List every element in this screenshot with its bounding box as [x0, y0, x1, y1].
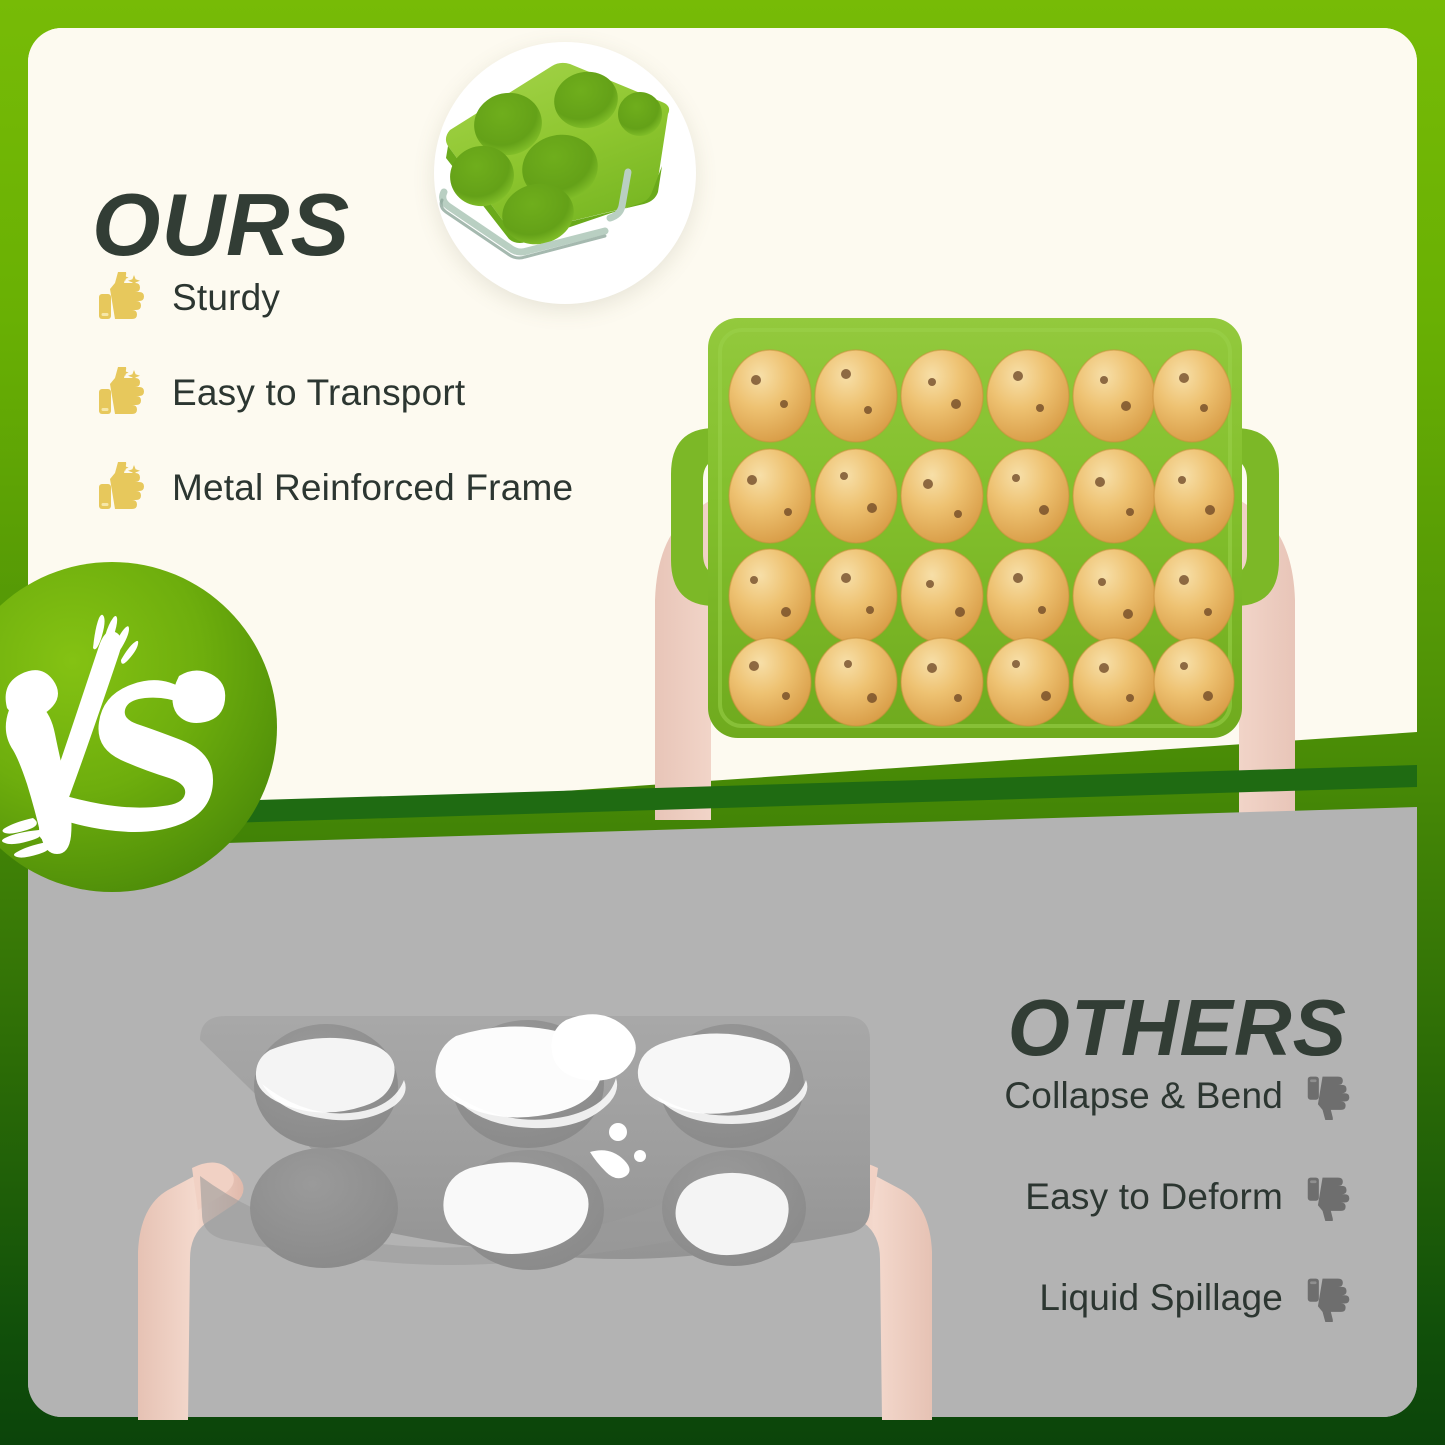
ours-feature-list: Sturdy Easy to Transport [96, 272, 573, 557]
thumbs-down-icon [1305, 1072, 1353, 1120]
vs-badge [0, 562, 277, 892]
others-feature-row: Collapse & Bend [1004, 1072, 1353, 1120]
others-feature-label: Collapse & Bend [1004, 1075, 1283, 1117]
ours-feature-row: Easy to Transport [96, 367, 573, 419]
comparison-infographic: OURS Sturdy [0, 0, 1445, 1445]
others-feature-label: Easy to Deform [1025, 1176, 1283, 1218]
ours-product-image [560, 300, 1390, 820]
thumbs-up-sparkle-icon [96, 367, 148, 419]
ours-feature-row: Metal Reinforced Frame [96, 462, 573, 514]
ours-title: OURS [92, 181, 350, 269]
thumbs-up-sparkle-icon [96, 272, 148, 324]
others-product-image [120, 1000, 950, 1420]
ours-inset-closeup [434, 42, 696, 304]
others-feature-list: Collapse & Bend Easy to Deform Liqui [1004, 1072, 1353, 1375]
ours-feature-label: Metal Reinforced Frame [172, 467, 573, 509]
thumbs-up-sparkle-icon [96, 462, 148, 514]
ours-feature-label: Easy to Transport [172, 372, 465, 414]
thumbs-down-icon [1305, 1274, 1353, 1322]
ours-feature-label: Sturdy [172, 277, 280, 319]
thumbs-down-icon [1305, 1173, 1353, 1221]
others-feature-row: Easy to Deform [1004, 1173, 1353, 1221]
others-title: OTHERS [1008, 988, 1347, 1068]
others-feature-row: Liquid Spillage [1004, 1274, 1353, 1322]
ours-feature-row: Sturdy [96, 272, 573, 324]
others-feature-label: Liquid Spillage [1039, 1277, 1283, 1319]
